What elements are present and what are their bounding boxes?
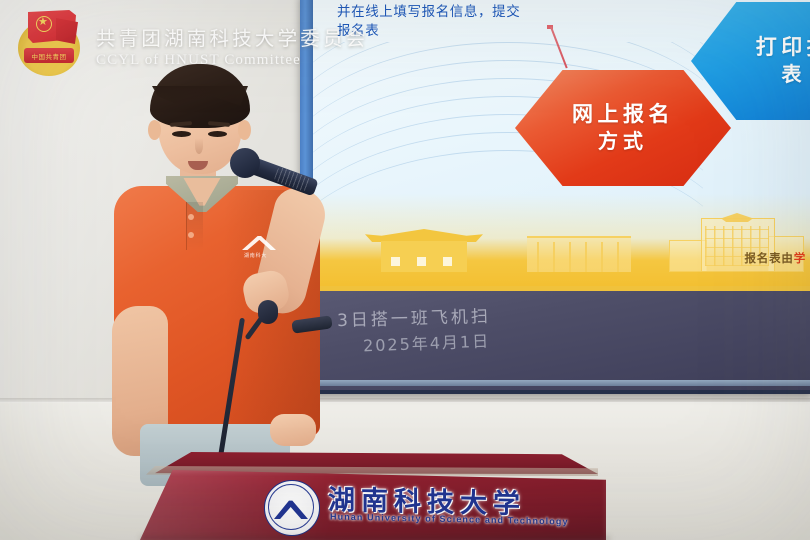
- slide-body-text: “西部志愿汇”查看有关情况 并在线上填写报名信息，提交 报名表: [337, 0, 667, 41]
- speaker-nose: [195, 138, 203, 154]
- ccyl-emblem-icon: 中国共青团: [12, 6, 86, 78]
- polo-button-1: [188, 214, 194, 220]
- podium-shadow: [140, 536, 610, 540]
- hexagon-red-line-2: 方式: [598, 128, 648, 155]
- photo-scene: “西部志愿汇”查看有关情况 并在线上填写报名信息，提交 报名表 打印报 表 网上…: [0, 0, 810, 540]
- speaker-ear-left: [148, 120, 161, 140]
- slide-skyline-illustration: [313, 194, 810, 286]
- slide-footer-note: 报名表由学: [744, 250, 806, 266]
- slide-text-line-3: 报名表: [337, 22, 667, 41]
- hexagon-blue-line-1: 打印报: [756, 34, 810, 61]
- board-bottom-rail: [313, 380, 810, 386]
- pagoda-building-icon: [365, 228, 483, 272]
- speaker-eye-right: [208, 131, 227, 137]
- slide-footer-prefix: 报名表由: [744, 251, 793, 265]
- handheld-microphone-icon: [230, 142, 322, 204]
- hall-building-icon: [527, 236, 631, 272]
- hexagon-red-line-1: 网上报名: [572, 101, 674, 128]
- shirt-chest-logo: 湖南科大: [242, 236, 276, 262]
- polo-placket: [186, 202, 203, 250]
- slide-footer-highlight: 学: [794, 251, 806, 265]
- speaker-ear-right: [238, 120, 251, 140]
- star-icon: [36, 16, 52, 32]
- emblem-band-text: 中国共青团: [32, 51, 67, 61]
- slide-text-line-2: 并在线上填写报名信息，提交: [337, 3, 667, 22]
- shirt-logo-text: 湖南科大: [244, 252, 267, 259]
- board-top-trim: [313, 286, 810, 291]
- board-handwriting-line-1: 3日搭一班飞机扫: [337, 302, 491, 331]
- dark-board: 3日搭一班飞机扫 2025年4月1日: [313, 286, 810, 390]
- presentation-slide: “西部志愿汇”查看有关情况 并在线上填写报名信息，提交 报名表 打印报 表 网上…: [313, 0, 810, 286]
- board-handwriting-line-2: 2025年4月1日: [363, 328, 491, 357]
- polo-button-2: [188, 232, 194, 238]
- speaker-eye-left: [172, 131, 191, 137]
- lectern-podium: 湖南科技大学 Hunan University of Science and T…: [140, 452, 610, 540]
- hexagon-blue-line-2: 表: [782, 61, 807, 88]
- banner-chinese-title: 共青团湖南科技大学委员会: [96, 22, 368, 51]
- hnust-logo-icon: [264, 480, 320, 536]
- mountain-logo-icon: [242, 236, 276, 250]
